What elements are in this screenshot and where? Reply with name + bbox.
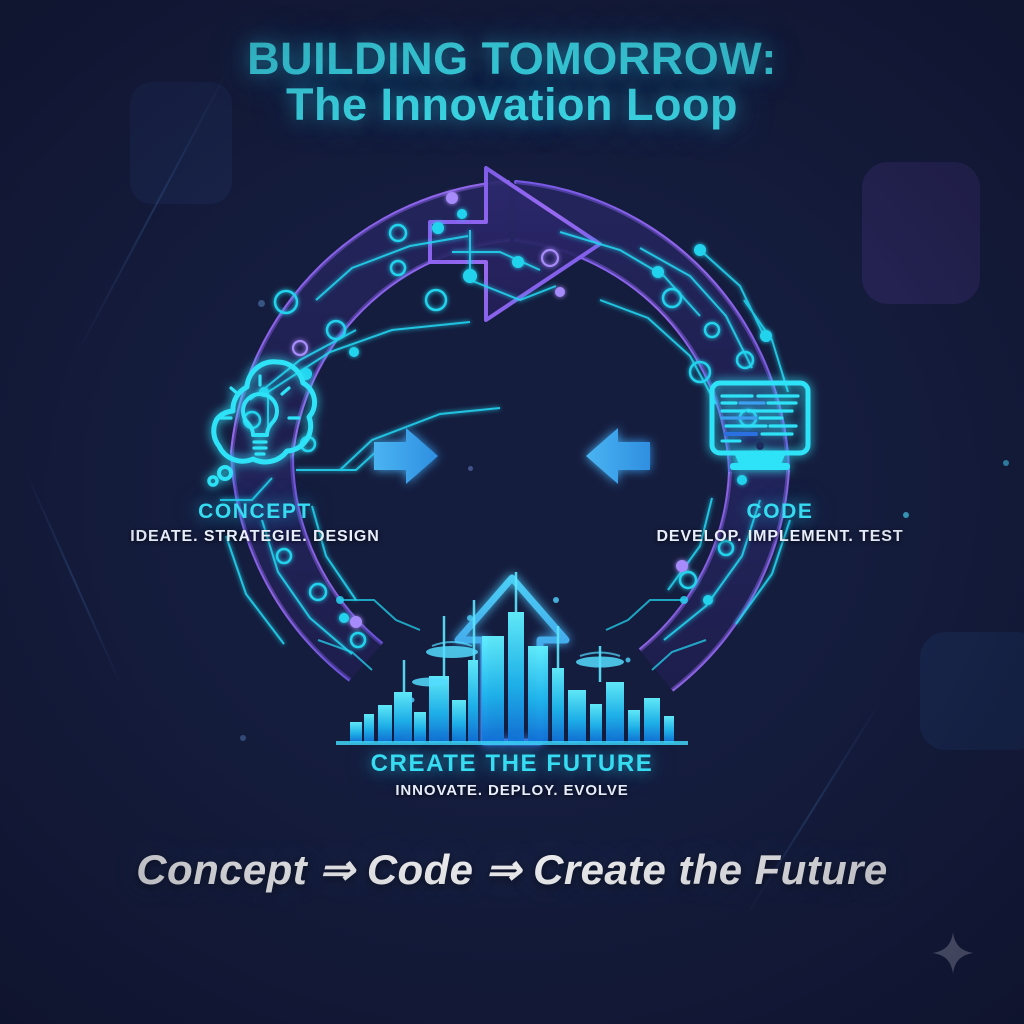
background-vignette bbox=[0, 0, 1024, 1024]
poster-canvas: BUILDING TOMORROW: The Innovation Loop C… bbox=[0, 0, 1024, 1024]
